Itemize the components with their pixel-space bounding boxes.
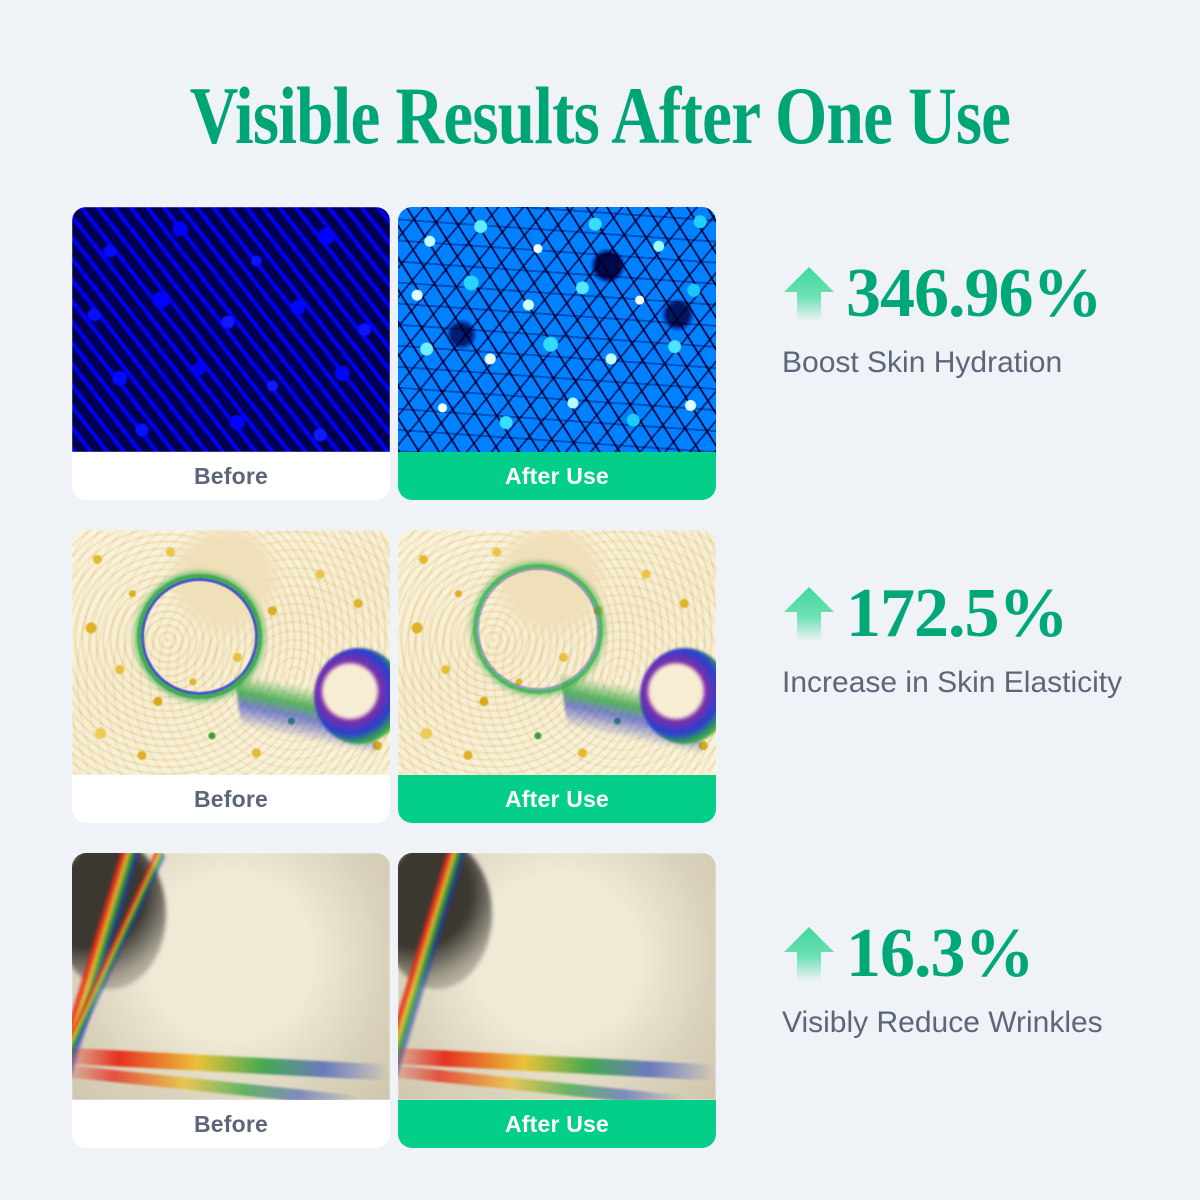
image-elasticity-before bbox=[72, 530, 390, 775]
stat-value: 172.5% bbox=[846, 577, 1068, 651]
stat-wrinkles: 16.3% Visibly Reduce Wrinkles bbox=[782, 917, 1172, 1043]
comparison-grid: Before After Use Before bbox=[72, 207, 722, 1178]
panel-elasticity-before[interactable]: Before bbox=[72, 530, 390, 823]
image-hydration-before bbox=[72, 207, 390, 452]
label-before: Before bbox=[72, 775, 390, 823]
hydration-after-texture bbox=[398, 207, 716, 452]
stat-hydration: 346.96% Boost Skin Hydration bbox=[782, 257, 1172, 383]
arrow-up-icon bbox=[782, 265, 836, 323]
arrow-up-icon bbox=[782, 585, 836, 643]
arrow-up-icon bbox=[782, 925, 836, 983]
stat-description: Boost Skin Hydration bbox=[782, 343, 1132, 383]
panel-wrinkles-after[interactable]: After Use bbox=[398, 853, 716, 1148]
label-after-use: After Use bbox=[398, 452, 716, 500]
comparison-row-hydration: Before After Use bbox=[72, 207, 722, 500]
label-after-use: After Use bbox=[398, 1100, 716, 1148]
stat-description: Increase in Skin Elasticity bbox=[782, 663, 1132, 703]
stat-description: Visibly Reduce Wrinkles bbox=[782, 1003, 1132, 1043]
hydration-before-texture bbox=[72, 207, 390, 452]
stat-value: 346.96% bbox=[846, 257, 1102, 331]
image-hydration-after bbox=[398, 207, 716, 452]
panel-wrinkles-before[interactable]: Before bbox=[72, 853, 390, 1148]
label-after-use: After Use bbox=[398, 775, 716, 823]
panel-hydration-after[interactable]: After Use bbox=[398, 207, 716, 500]
label-before: Before bbox=[72, 1100, 390, 1148]
stat-headline: 346.96% bbox=[782, 257, 1172, 331]
image-wrinkles-after bbox=[398, 853, 716, 1100]
label-before: Before bbox=[72, 452, 390, 500]
comparison-row-elasticity: Before After Use bbox=[72, 530, 722, 823]
panel-elasticity-after[interactable]: After Use bbox=[398, 530, 716, 823]
image-elasticity-after bbox=[398, 530, 716, 775]
image-wrinkles-before bbox=[72, 853, 390, 1100]
stat-headline: 172.5% bbox=[782, 577, 1172, 651]
comparison-row-wrinkles: Before After Use bbox=[72, 853, 722, 1148]
panel-hydration-before[interactable]: Before bbox=[72, 207, 390, 500]
stat-value: 16.3% bbox=[846, 917, 1034, 991]
stat-elasticity: 172.5% Increase in Skin Elasticity bbox=[782, 577, 1172, 703]
page-title: Visible Results After One Use bbox=[108, 72, 1092, 160]
stat-headline: 16.3% bbox=[782, 917, 1172, 991]
